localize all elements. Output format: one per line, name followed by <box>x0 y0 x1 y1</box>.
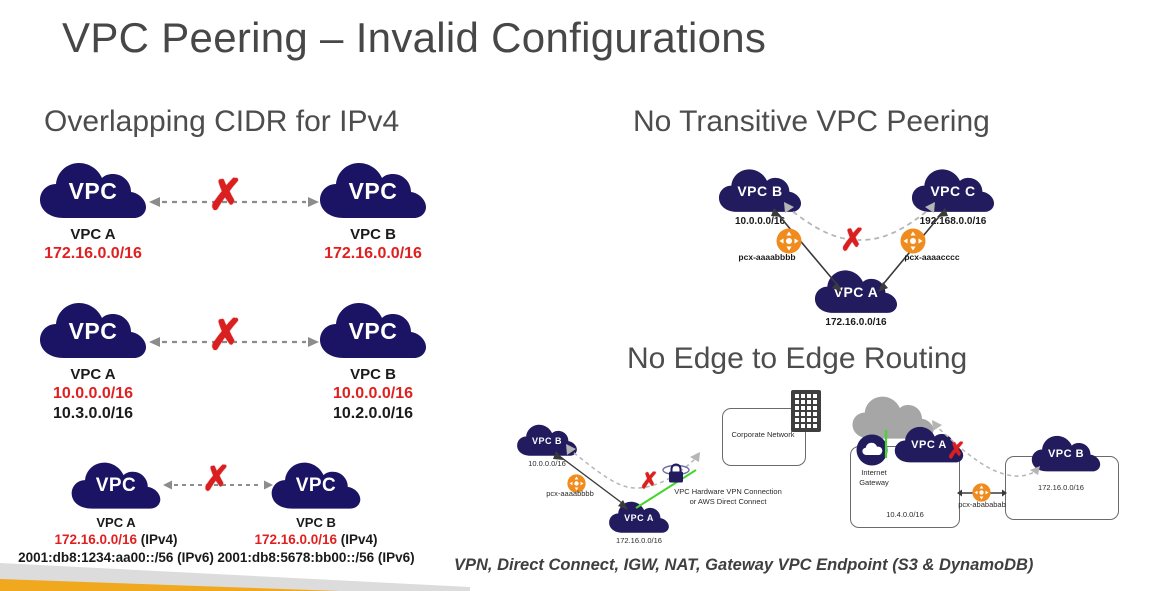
edge-right-peering-id: pcx-abababab <box>944 500 1020 509</box>
ipv4-value: 172.16.0.0/16 <box>54 532 137 547</box>
vpc-cidr-b-row2-primary: 10.0.0.0/16 <box>303 385 443 403</box>
vpc-cloud-a-row2: VPC <box>38 300 148 362</box>
section-heading-no-transitive-peering: No Transitive VPC Peering <box>633 105 990 139</box>
vpc-cidr-a-row1: 172.16.0.0/16 <box>18 245 168 263</box>
slide-decoration-bar <box>0 557 470 591</box>
edge-right-blocked-route <box>920 412 1050 494</box>
vpc-cidr-a-row2-primary: 10.0.0.0/16 <box>23 385 163 403</box>
vpc-cloud-b-row1: VPC <box>318 160 428 222</box>
vpc-cidr-b-row3-ipv4: 172.16.0.0/16 (IPv4) <box>216 532 416 547</box>
vpc-name-b-row3: VPC B <box>270 515 362 530</box>
invalid-x-icon-transitive: ✗ <box>840 226 865 256</box>
edge-peering-id: pcx-aaaabbbb <box>520 489 620 498</box>
internet-gateway-label-line2: Gateway <box>842 478 906 487</box>
vpc-name-a-row1: VPC A <box>38 226 148 243</box>
vpc-cloud-b-row3: VPC <box>270 460 362 512</box>
footer-caption: VPN, Direct Connect, IGW, NAT, Gateway V… <box>454 556 1033 575</box>
vpn-connection-label-line2: or AWS Direct Connect <box>638 497 818 506</box>
vpc-cidr-a-row2-secondary: 10.3.0.0/16 <box>23 405 163 423</box>
igw-internet-link <box>880 430 892 460</box>
section-heading-overlapping-cidr: Overlapping CIDR for IPv4 <box>44 105 399 139</box>
peering-id-aaaabbbb: pcx-aaaabbbb <box>707 252 827 262</box>
vpc-cidr-b-row2-secondary: 10.2.0.0/16 <box>303 405 443 423</box>
vpc-cloud-a-row3: VPC <box>70 460 162 512</box>
vpc-name-b-row1: VPC B <box>318 226 428 243</box>
invalid-x-icon-row1: ✗ <box>208 174 243 216</box>
ipv4-suffix: (IPv4) <box>137 532 178 547</box>
datacenter-icon <box>791 390 821 432</box>
internet-gateway-label-line1: Internet <box>842 468 906 477</box>
vpc-cidr-b-row1: 172.16.0.0/16 <box>298 245 448 263</box>
peering-router-icon-ab <box>776 228 802 254</box>
vpc-name-a-row2: VPC A <box>38 366 148 383</box>
vpn-connection-label-line1: VPC Hardware VPN Connection <box>638 487 818 496</box>
invalid-x-icon-edge-right: ✗ <box>947 440 965 462</box>
vpn-gateway-lock-icon <box>662 462 690 486</box>
section-heading-no-edge-to-edge-routing: No Edge to Edge Routing <box>627 342 967 376</box>
vpc-name-b-row2: VPC B <box>318 366 428 383</box>
vpc-cidr-a-row3-ipv4: 172.16.0.0/16 (IPv4) <box>16 532 216 547</box>
invalid-x-icon-row3: ✗ <box>202 462 231 496</box>
slide-canvas: VPC Peering – Invalid Configurations Ove… <box>0 0 1173 591</box>
edge-right-vpc-a-cidr: 10.4.0.0/16 <box>870 510 940 519</box>
peering-id-aaaacccc: pcx-aaaacccc <box>872 252 992 262</box>
page-title: VPC Peering – Invalid Configurations <box>62 14 766 62</box>
vpc-cloud-b-row2: VPC <box>318 300 428 362</box>
vpc-cloud-a-row1: VPC <box>38 160 148 222</box>
peering-router-icon-ac <box>900 228 926 254</box>
ipv4-suffix: (IPv4) <box>337 532 378 547</box>
vpc-name-a-row3: VPC A <box>70 515 162 530</box>
invalid-x-icon-row2: ✗ <box>208 314 243 356</box>
ipv4-value: 172.16.0.0/16 <box>254 532 337 547</box>
